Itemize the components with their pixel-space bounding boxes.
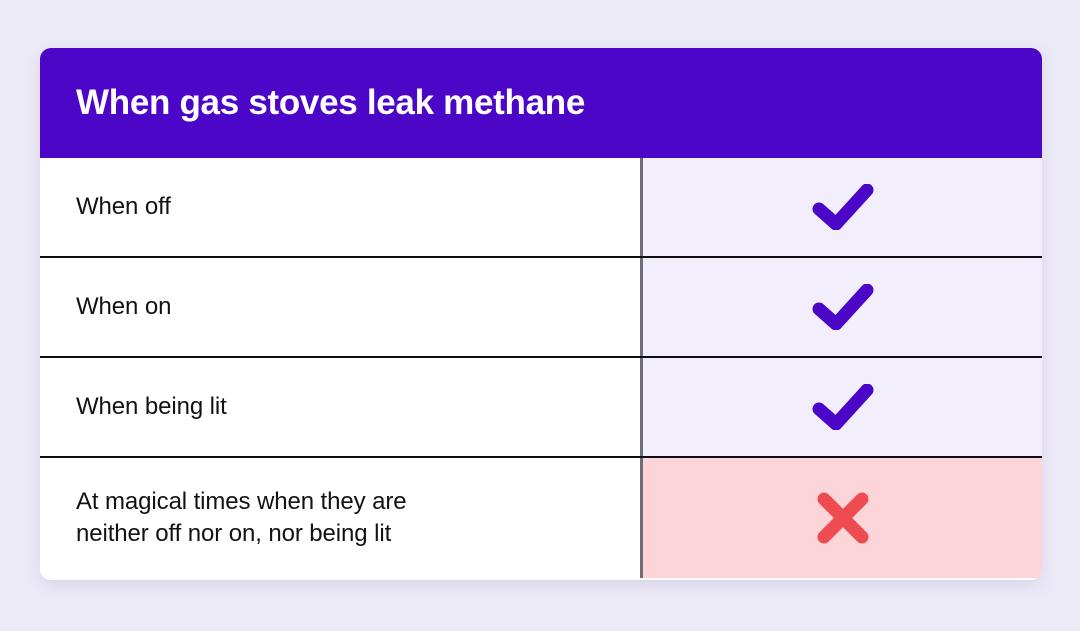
methane-leak-table-card: When gas stoves leak methane When off bbox=[40, 48, 1042, 580]
check-icon bbox=[812, 384, 874, 430]
table-cell-mark bbox=[643, 158, 1042, 256]
table-row: When off bbox=[40, 158, 1042, 258]
row-label: When being lit bbox=[76, 391, 227, 423]
table-cell-label: At magical times when they are neither o… bbox=[40, 458, 643, 578]
row-label: At magical times when they are neither o… bbox=[76, 486, 406, 549]
table-cell-mark bbox=[643, 458, 1042, 578]
check-icon bbox=[812, 184, 874, 230]
table-cell-label: When on bbox=[40, 258, 643, 356]
table-cell-label: When off bbox=[40, 158, 643, 256]
table-cell-mark bbox=[643, 258, 1042, 356]
cross-icon bbox=[815, 490, 871, 546]
card-header: When gas stoves leak methane bbox=[40, 48, 1042, 158]
table-row: When being lit bbox=[40, 358, 1042, 458]
table-cell-label: When being lit bbox=[40, 358, 643, 456]
page-canvas: When gas stoves leak methane When off bbox=[0, 0, 1080, 631]
row-label: When on bbox=[76, 291, 171, 323]
table-row: When on bbox=[40, 258, 1042, 358]
table-cell-mark bbox=[643, 358, 1042, 456]
table-row: At magical times when they are neither o… bbox=[40, 458, 1042, 578]
page-title: When gas stoves leak methane bbox=[76, 84, 585, 123]
check-icon bbox=[812, 284, 874, 330]
table-body: When off When on bbox=[40, 158, 1042, 580]
row-label: When off bbox=[76, 191, 171, 223]
